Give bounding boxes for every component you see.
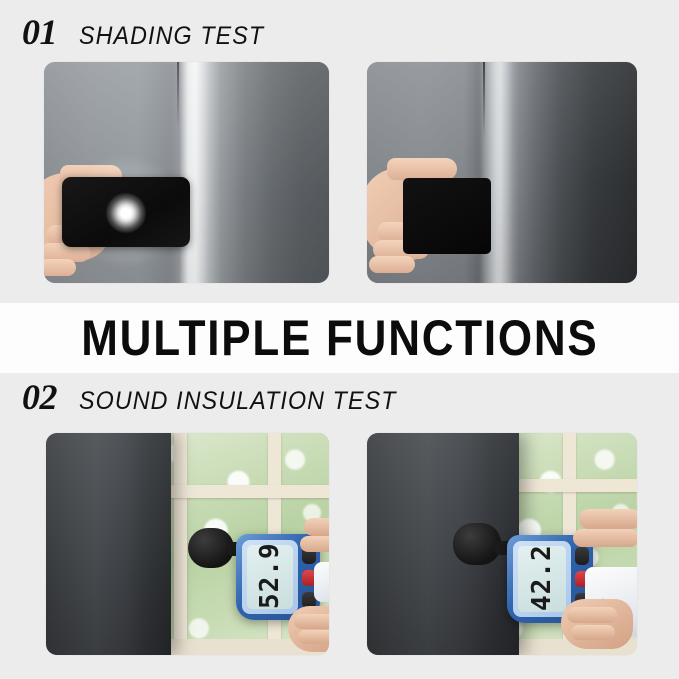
- finger: [304, 518, 329, 536]
- finger: [571, 625, 615, 640]
- hand-holding-meter: [294, 514, 329, 654]
- section-heading-02: 02 SOUND INSULATION TEST: [22, 379, 420, 415]
- finger: [44, 259, 76, 276]
- finger: [369, 256, 415, 273]
- finger: [294, 614, 329, 629]
- hand-holding-phone: [367, 150, 491, 270]
- banner-title: MULTIPLE FUNCTIONS: [81, 313, 598, 363]
- hand-holding-phone: [44, 159, 156, 269]
- meter-reading: 42.2: [527, 553, 557, 611]
- section-title: SHADING TEST: [79, 24, 264, 49]
- curtain-panel: [46, 433, 171, 655]
- sound-level-meter: 52.9: [176, 518, 329, 655]
- section-title: SOUND INSULATION TEST: [79, 389, 397, 414]
- product-infographic: 01 SHADING TEST MULTIPLE: [0, 0, 679, 679]
- section-number: 01: [22, 14, 57, 50]
- shading-test-photo-light-off: [367, 62, 637, 283]
- lcd-display: 42.2: [518, 546, 566, 612]
- shading-test-photo-light-on: [44, 62, 329, 283]
- flashlight-beam-icon: [106, 193, 146, 233]
- lcd-bezel: 52.9: [242, 540, 298, 614]
- lcd-display: 52.9: [247, 545, 293, 609]
- finger: [298, 630, 329, 644]
- section-heading-01: 01 SHADING TEST: [22, 14, 278, 50]
- curtain-seam: [177, 62, 179, 128]
- sound-test-photo-without-curtain: 52.9: [46, 433, 329, 655]
- lcd-bezel: 42.2: [513, 541, 571, 617]
- meter-reading: 52.9: [255, 551, 285, 609]
- hand-holding-meter: [565, 503, 637, 653]
- banner: MULTIPLE FUNCTIONS: [0, 303, 679, 373]
- sound-level-meter: 42.2 ◎: [453, 517, 633, 655]
- finger: [573, 529, 637, 547]
- section-number: 02: [22, 379, 57, 415]
- smartphone: [403, 178, 491, 254]
- finger: [387, 158, 457, 180]
- finger: [567, 607, 617, 623]
- curtain-seam: [483, 62, 485, 137]
- finger: [579, 509, 637, 529]
- finger: [300, 536, 329, 552]
- sound-test-photo-with-curtain: 42.2 ◎: [367, 433, 637, 655]
- microphone-windscreen: [453, 523, 501, 565]
- palm: [288, 606, 329, 652]
